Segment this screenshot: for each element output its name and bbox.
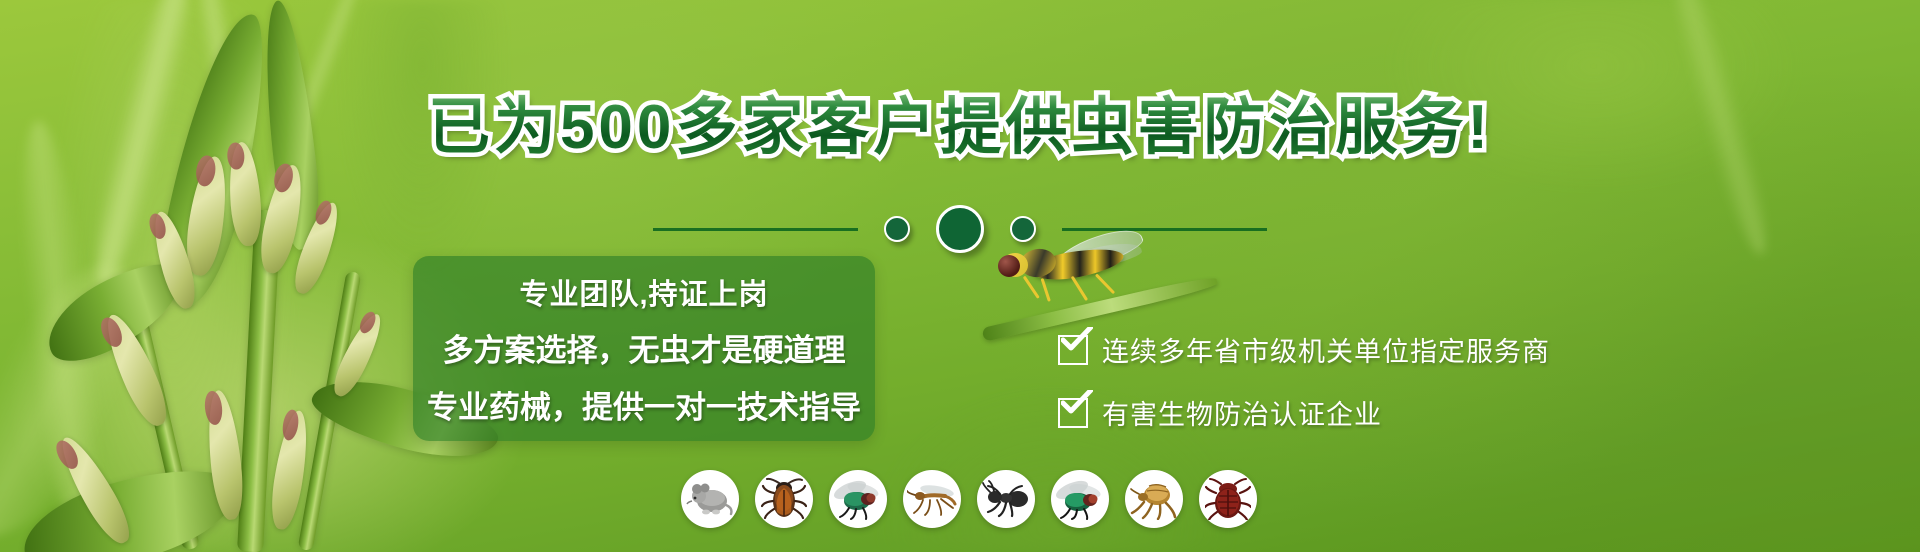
feature-list: 连续多年省市级机关单位指定服务商 有害生物防治认证企业: [1058, 330, 1550, 432]
fly-leg-icon: [1041, 278, 1051, 302]
fly-leg-icon: [1023, 276, 1040, 299]
headline: 已为500多家客户提供虫害防治服务! 已为500多家客户提供虫害防治服务!: [0, 76, 1920, 166]
decorative-divider: [0, 205, 1920, 253]
pest-icon-row: [681, 470, 1257, 528]
divider-dot-small-left: [884, 216, 910, 242]
headline-fill-layer: 已为500多家客户提供虫害防治服务!: [428, 76, 1492, 166]
bedbug-icon: [1199, 470, 1257, 528]
promo-banner: 已为500多家客户提供虫害防治服务! 已为500多家客户提供虫害防治服务! 专业…: [0, 0, 1920, 552]
info-panel-line-2: 多方案选择，无虫才是硬道理: [443, 325, 846, 370]
checkbox-check-icon: [1058, 398, 1088, 428]
info-panel-line-3: 专业药械，提供一对一技术指导: [427, 382, 861, 427]
ant-icon: [977, 470, 1035, 528]
flea-icon: [1125, 470, 1183, 528]
feature-item: 有害生物防治认证企业: [1058, 393, 1550, 432]
info-panel: 专业团队,持证上岗 多方案选择，无虫才是硬道理 专业药械，提供一对一技术指导: [413, 256, 875, 441]
mouse-icon: [681, 470, 739, 528]
fly-leg-icon: [1095, 273, 1115, 294]
mosquito-icon: [903, 470, 961, 528]
fly-icon: [829, 470, 887, 528]
fly-leg-icon: [1071, 276, 1088, 301]
feature-item-label: 有害生物防治认证企业: [1102, 393, 1382, 432]
fly-eye-icon: [998, 255, 1020, 277]
checkbox-check-icon: [1058, 335, 1088, 365]
info-panel-line-1: 专业团队,持证上岗: [519, 271, 768, 313]
blowfly-icon: [1051, 470, 1109, 528]
divider-line-right: [1062, 228, 1267, 231]
divider-dot-large: [936, 205, 984, 253]
divider-line-left: [653, 228, 858, 231]
cockroach-icon: [755, 470, 813, 528]
feature-item-label: 连续多年省市级机关单位指定服务商: [1102, 330, 1550, 369]
feature-item: 连续多年省市级机关单位指定服务商: [1058, 330, 1550, 369]
